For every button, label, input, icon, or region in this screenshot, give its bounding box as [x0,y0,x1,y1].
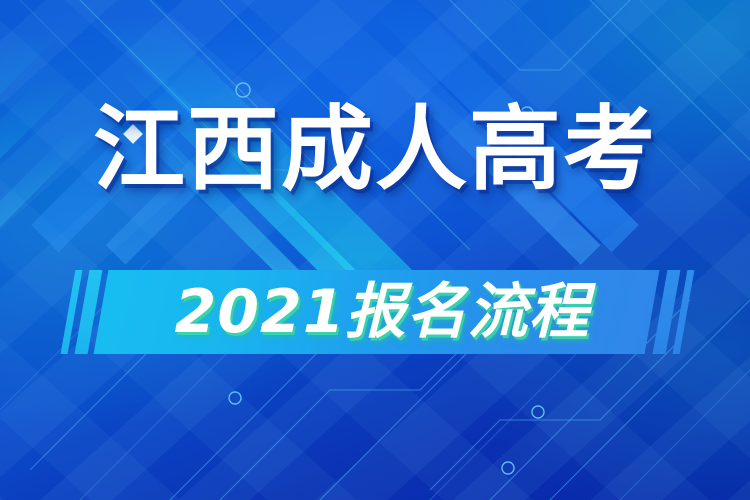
circuit-trace-lines [0,0,750,500]
poster-subtitle: 2021报名流程 [175,282,590,342]
subtitle-ribbon: 2021报名流程 [0,270,750,354]
title-block: 江西成人高考 [0,104,750,196]
poster-canvas: 江西成人高考 2021报名流程 [0,0,750,500]
poster-title: 江西成人高考 [93,104,657,196]
subtitle-text-container: 2021报名流程 [0,270,750,354]
